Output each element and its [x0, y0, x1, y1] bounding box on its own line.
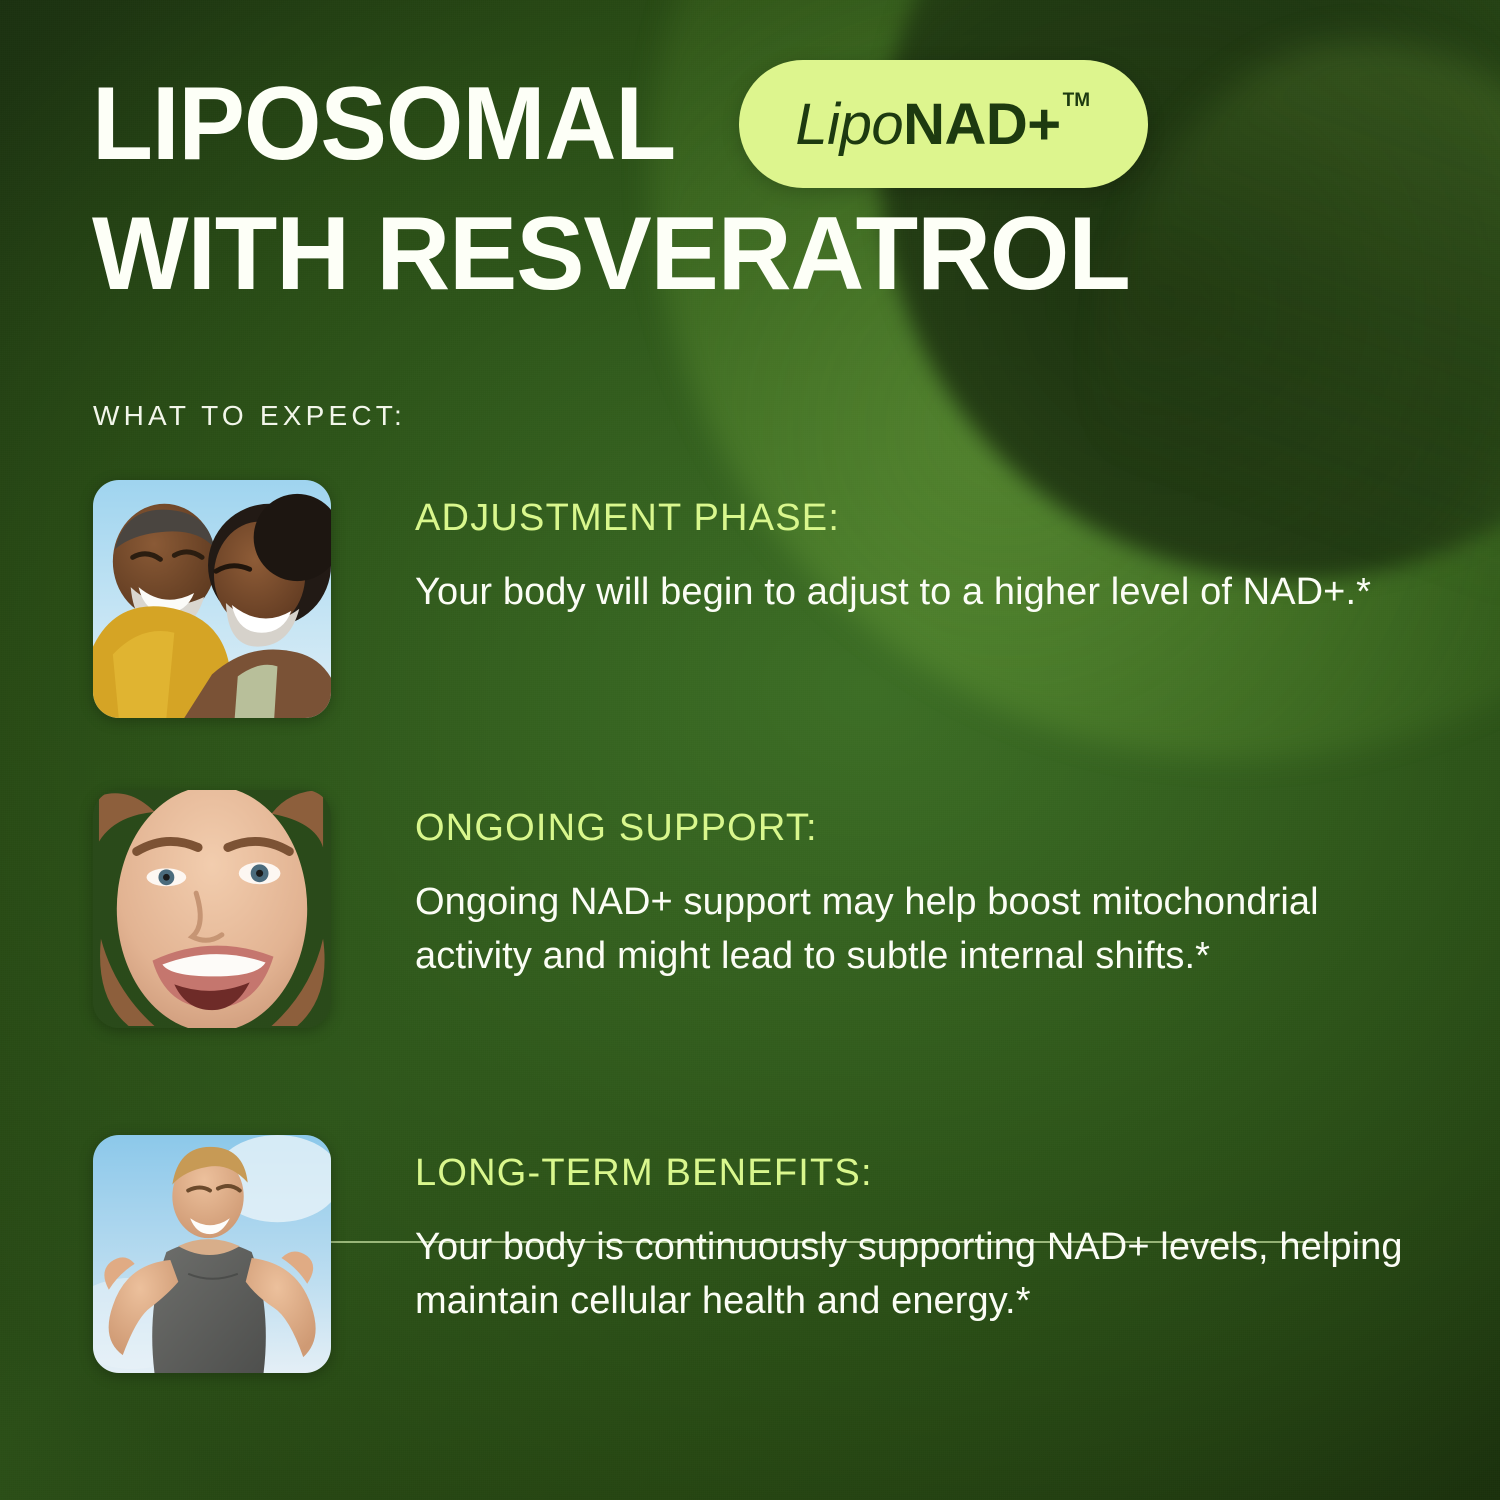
- trademark-icon: TM: [1063, 90, 1090, 112]
- badge-nad-text: NAD+: [903, 91, 1061, 158]
- smiling-woman-closeup-photo: [93, 790, 331, 1028]
- list-item-body: Your body will begin to adjust to a high…: [415, 566, 1371, 620]
- headline-line-2: WITH RESVERATROL: [92, 200, 1402, 308]
- expectations-list: ADJUSTMENT PHASE: Your body will begin t…: [0, 465, 1500, 1450]
- smiling-mature-couple-photo: [93, 480, 331, 718]
- what-to-expect-label: WHAT TO EXPECT:: [93, 400, 406, 432]
- man-flexing-biceps-photo: [93, 1135, 331, 1373]
- list-item-text: LONG-TERM BENEFITS: Your body is continu…: [415, 1152, 1415, 1329]
- list-item-text: ONGOING SUPPORT: Ongoing NAD+ support ma…: [415, 807, 1415, 984]
- list-item-title: LONG-TERM BENEFITS:: [415, 1152, 1415, 1195]
- list-item: LONG-TERM BENEFITS: Your body is continu…: [0, 1120, 1500, 1450]
- headline-line-1: LIPOSOMAL: [92, 70, 675, 178]
- list-item: ONGOING SUPPORT: Ongoing NAD+ support ma…: [0, 775, 1500, 1120]
- badge-lipo-text: Lipo: [795, 91, 903, 158]
- headline-row-1: LIPOSOMAL LipoNAD+TM: [92, 60, 1422, 188]
- list-item: ADJUSTMENT PHASE: Your body will begin t…: [0, 465, 1500, 775]
- list-item-body: Your body is continuously supporting NAD…: [415, 1221, 1415, 1329]
- product-infographic: LIPOSOMAL LipoNAD+TM WITH RESVERATROL WH…: [0, 0, 1500, 1500]
- headline-block: LIPOSOMAL LipoNAD+TM WITH RESVERATROL: [92, 60, 1422, 308]
- list-item-text: ADJUSTMENT PHASE: Your body will begin t…: [415, 497, 1371, 620]
- list-item-title: ONGOING SUPPORT:: [415, 807, 1415, 850]
- lipo-nad-badge: LipoNAD+TM: [739, 60, 1148, 188]
- list-item-body: Ongoing NAD+ support may help boost mito…: [415, 876, 1415, 984]
- list-item-title: ADJUSTMENT PHASE:: [415, 497, 1371, 540]
